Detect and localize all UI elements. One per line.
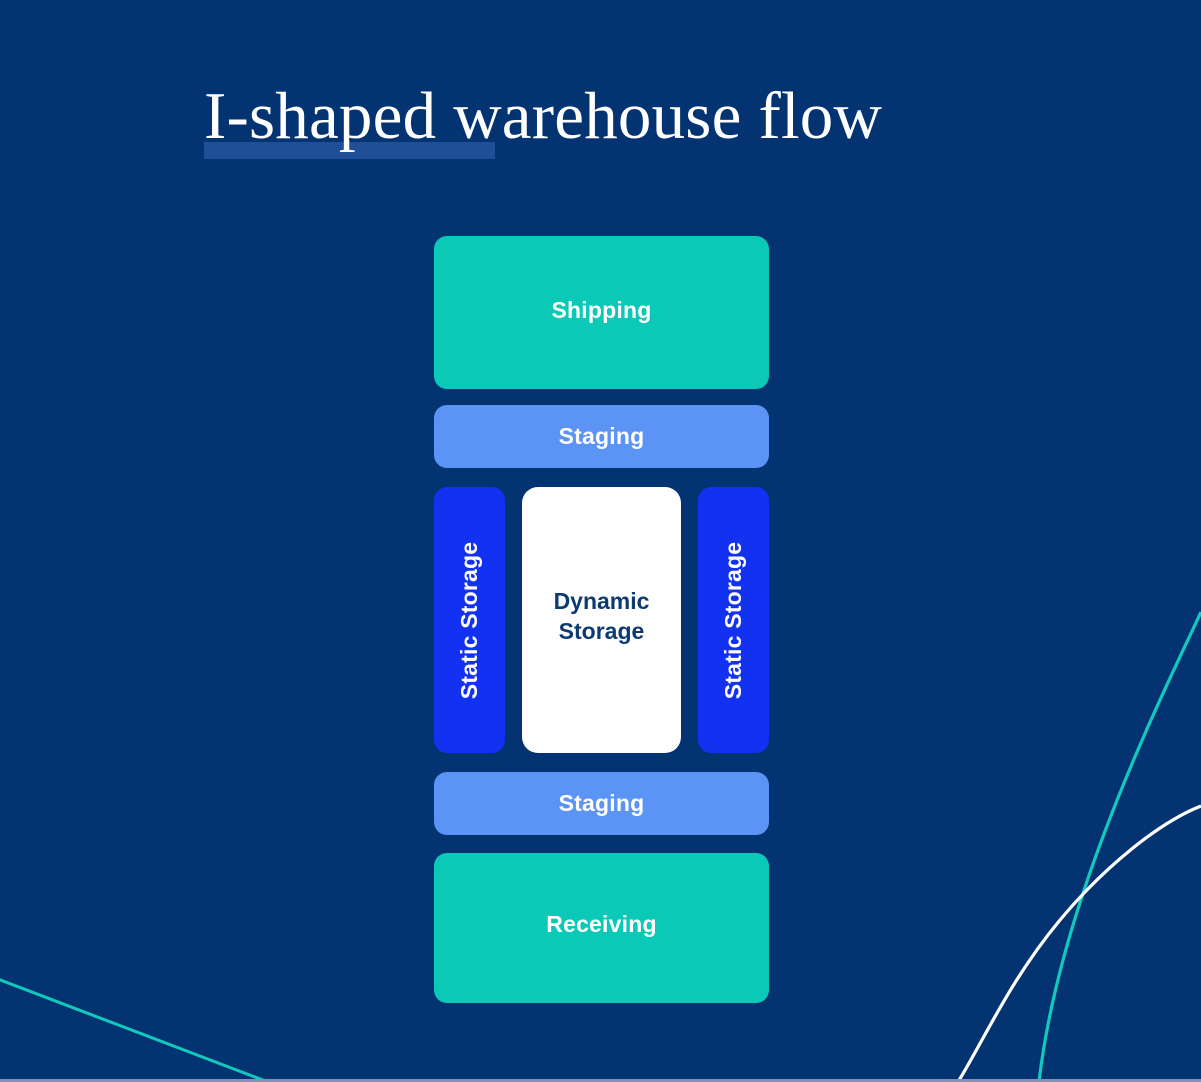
zone-staging-top[interactable]: Staging xyxy=(434,405,769,468)
zone-staging-bottom-label: Staging xyxy=(559,790,645,817)
zone-dynamic-storage-label-line2: Storage xyxy=(559,618,645,644)
zone-dynamic-storage-label-line1: Dynamic xyxy=(554,588,650,614)
deco-curve-teal xyxy=(1039,612,1201,1082)
page-title: I-shaped warehouse flow xyxy=(204,70,882,162)
zone-dynamic-storage[interactable]: Dynamic Storage xyxy=(522,487,681,753)
zone-static-storage-left[interactable]: Static Storage xyxy=(434,487,505,753)
deco-curve-white xyxy=(958,806,1201,1082)
zone-receiving-label: Receiving xyxy=(546,911,656,938)
zone-shipping-label: Shipping xyxy=(552,297,652,324)
zone-dynamic-storage-label: Dynamic Storage xyxy=(554,586,650,646)
deco-line-bottom-left xyxy=(0,978,268,1082)
zone-static-storage-right[interactable]: Static Storage xyxy=(698,487,769,753)
slide-canvas: I-shaped warehouse flow Shipping Staging… xyxy=(0,0,1201,1082)
zone-shipping[interactable]: Shipping xyxy=(434,236,769,389)
storage-row: Static Storage Dynamic Storage Static St… xyxy=(434,487,769,753)
zone-receiving[interactable]: Receiving xyxy=(434,853,769,1003)
page-title-block: I-shaped warehouse flow xyxy=(204,70,1064,165)
zone-static-storage-left-label: Static Storage xyxy=(456,541,483,698)
zone-static-storage-right-label: Static Storage xyxy=(720,541,747,698)
zone-staging-bottom[interactable]: Staging xyxy=(434,772,769,835)
warehouse-layout-diagram: Shipping Staging Static Storage Dynamic … xyxy=(434,236,769,1003)
zone-staging-top-label: Staging xyxy=(559,423,645,450)
